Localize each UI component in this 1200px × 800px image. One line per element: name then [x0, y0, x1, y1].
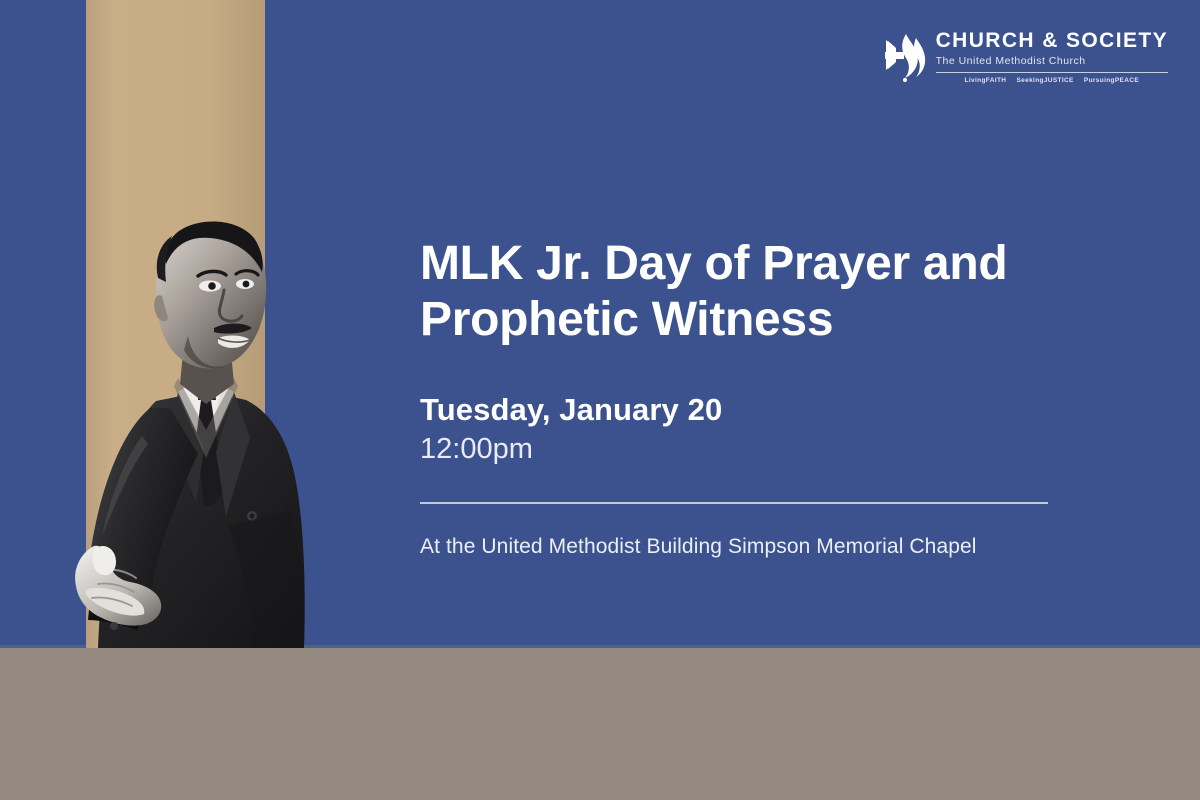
- logo-tagline: LivingFAITH SeekingJUSTICE PursuingPEACE: [936, 78, 1168, 85]
- logo-tagline-part1: LivingFAITH: [965, 77, 1007, 84]
- event-poster: CHURCH & SOCIETY The United Methodist Ch…: [0, 0, 1200, 800]
- logo-tagline-part3: PursuingPEACE: [1084, 77, 1139, 84]
- event-details: MLK Jr. Day of Prayer and Prophetic Witn…: [420, 236, 1080, 560]
- mlk-portrait-photo: [38, 186, 378, 648]
- logo-divider-rule: [936, 72, 1168, 73]
- event-date: Tuesday, January 20: [420, 393, 1080, 427]
- content-divider: [420, 502, 1048, 504]
- event-time: 12:00pm: [420, 433, 1080, 466]
- event-venue: At the United Methodist Building Simpson…: [420, 533, 1080, 560]
- cross-and-flame-icon: [882, 26, 926, 84]
- poster-bottom-band: [0, 648, 1200, 800]
- event-headline: MLK Jr. Day of Prayer and Prophetic Witn…: [420, 236, 1080, 347]
- logo-subtitle: The United Methodist Church: [936, 56, 1168, 67]
- logo-title: CHURCH & SOCIETY: [936, 30, 1168, 51]
- logo-text-block: CHURCH & SOCIETY The United Methodist Ch…: [936, 26, 1168, 84]
- church-and-society-logo: CHURCH & SOCIETY The United Methodist Ch…: [882, 26, 1168, 84]
- logo-tagline-part2: SeekingJUSTICE: [1016, 77, 1073, 84]
